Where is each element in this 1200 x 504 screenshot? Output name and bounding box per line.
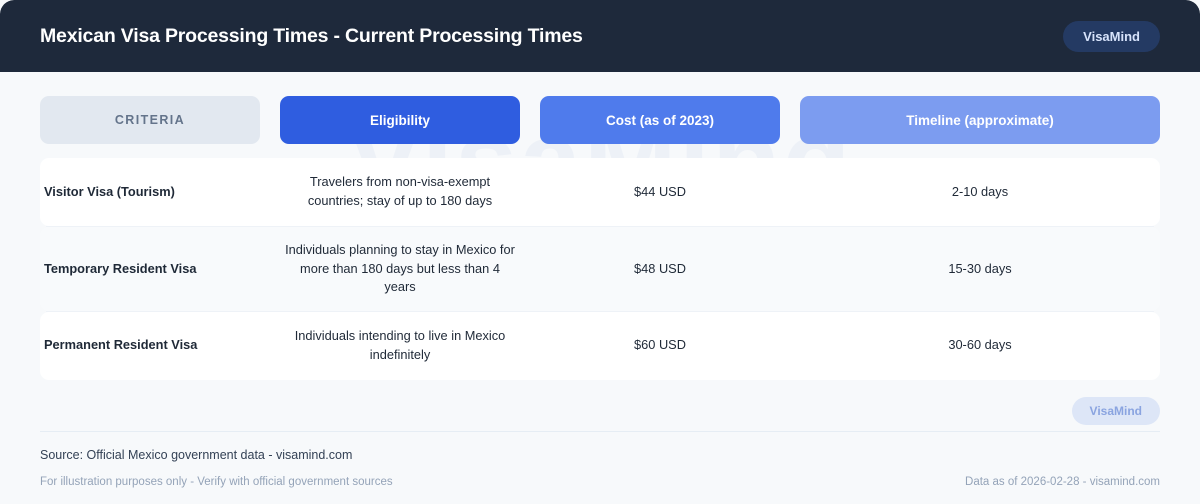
cell-eligibility: Travelers from non-visa-exempt countries… — [280, 159, 520, 224]
cell-cost: $48 USD — [540, 246, 780, 293]
table-row[interactable]: Permanent Resident Visa Individuals inte… — [40, 312, 1160, 380]
cell-timeline: 30-60 days — [800, 322, 1160, 369]
footer-disclaimer: For illustration purposes only - Verify … — [40, 476, 393, 488]
footer-source-text: Source: Official Mexico government data … — [40, 448, 1160, 462]
page-footer: VisaMind Source: Official Mexico governm… — [0, 397, 1200, 504]
table-row[interactable]: Temporary Resident Visa Individuals plan… — [40, 227, 1160, 311]
table-row[interactable]: Visitor Visa (Tourism) Travelers from no… — [40, 158, 1160, 226]
cell-criteria: Permanent Resident Visa — [40, 322, 260, 369]
footer-brand-badge: VisaMind — [1072, 397, 1160, 425]
footer-badge-row: VisaMind — [40, 397, 1160, 431]
cell-cost: $44 USD — [540, 169, 780, 216]
column-header-criteria[interactable]: CRITERIA — [40, 96, 260, 144]
column-header-timeline[interactable]: Timeline (approximate) — [800, 96, 1160, 144]
table-infographic-page: Mexican Visa Processing Times - Current … — [0, 0, 1200, 504]
footer-bottom-row: For illustration purposes only - Verify … — [40, 476, 1160, 488]
page-header: Mexican Visa Processing Times - Current … — [0, 0, 1200, 72]
footer-divider — [40, 431, 1160, 432]
footer-data-date: Data as of 2026-02-28 - visamind.com — [965, 476, 1160, 488]
column-header-eligibility[interactable]: Eligibility — [280, 96, 520, 144]
column-header-cost[interactable]: Cost (as of 2023) — [540, 96, 780, 144]
cell-timeline: 15-30 days — [800, 246, 1160, 293]
table-header-row: CRITERIA Eligibility Cost (as of 2023) T… — [40, 96, 1160, 144]
cell-cost: $60 USD — [540, 322, 780, 369]
cell-eligibility: Individuals planning to stay in Mexico f… — [280, 227, 520, 311]
table-body: Visitor Visa (Tourism) Travelers from no… — [40, 158, 1160, 380]
cell-criteria: Temporary Resident Visa — [40, 246, 260, 293]
cell-eligibility: Individuals intending to live in Mexico … — [280, 313, 520, 378]
page-title: Mexican Visa Processing Times - Current … — [40, 25, 583, 48]
cell-criteria: Visitor Visa (Tourism) — [40, 169, 260, 216]
brand-badge: VisaMind — [1063, 21, 1160, 52]
cell-timeline: 2-10 days — [800, 169, 1160, 216]
table: CRITERIA Eligibility Cost (as of 2023) T… — [0, 72, 1200, 380]
